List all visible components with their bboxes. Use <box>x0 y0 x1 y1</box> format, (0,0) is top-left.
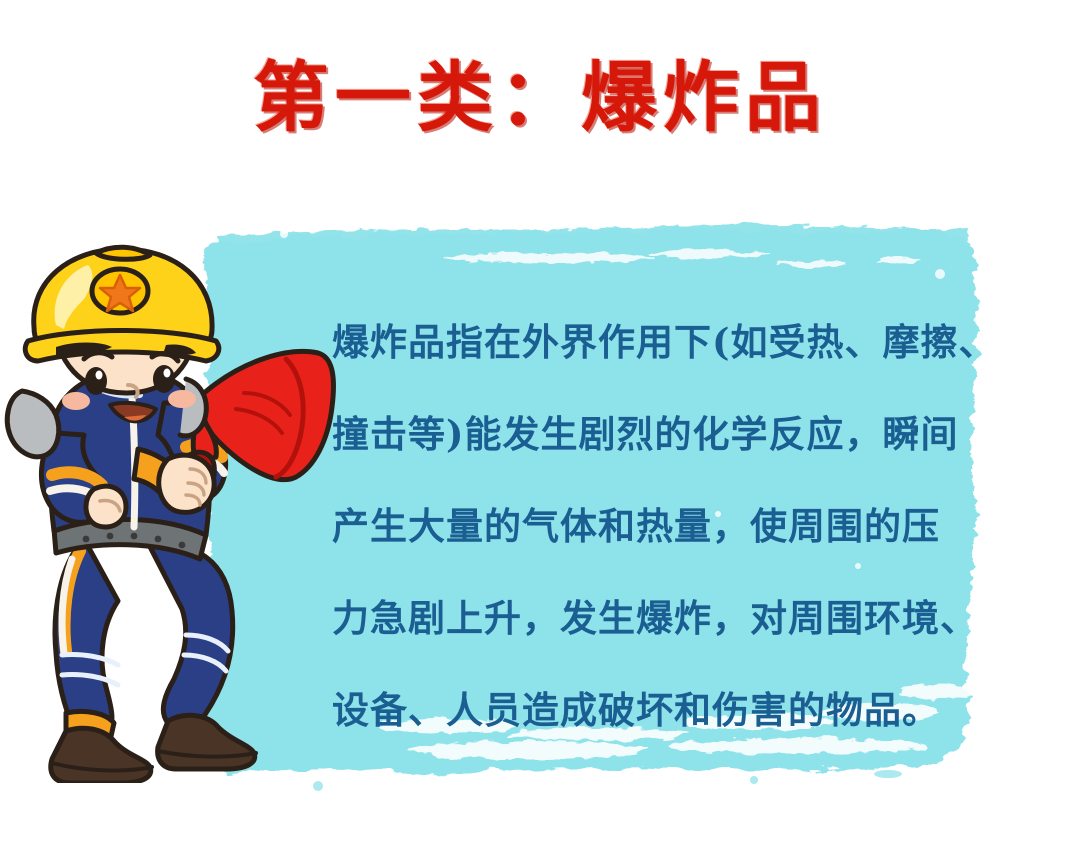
paragraph-line-5: 设备、人员造成破坏和伤害的物品。 <box>332 664 972 756</box>
firefighter-mascot-illustration <box>0 243 340 783</box>
paragraph-line-2: 撞击等)能发生剧烈的化学反应，瞬间 <box>332 388 972 480</box>
poster-canvas: 第一类：爆炸品 爆炸品指在外界作用下(如受热、摩擦、 撞击等)能发生剧烈的化学反… <box>0 0 1080 866</box>
paragraph-line-1: 爆炸品指在外界作用下(如受热、摩擦、 <box>332 296 972 388</box>
paragraph-line-3: 产生大量的气体和热量，使周围的压 <box>332 480 972 572</box>
page-title: 第一类：爆炸品 <box>0 58 1080 138</box>
definition-paragraph: 爆炸品指在外界作用下(如受热、摩擦、 撞击等)能发生剧烈的化学反应，瞬间 产生大… <box>332 296 972 756</box>
paragraph-line-4: 力急剧上升，发生爆炸，对周围环境、 <box>332 572 972 664</box>
